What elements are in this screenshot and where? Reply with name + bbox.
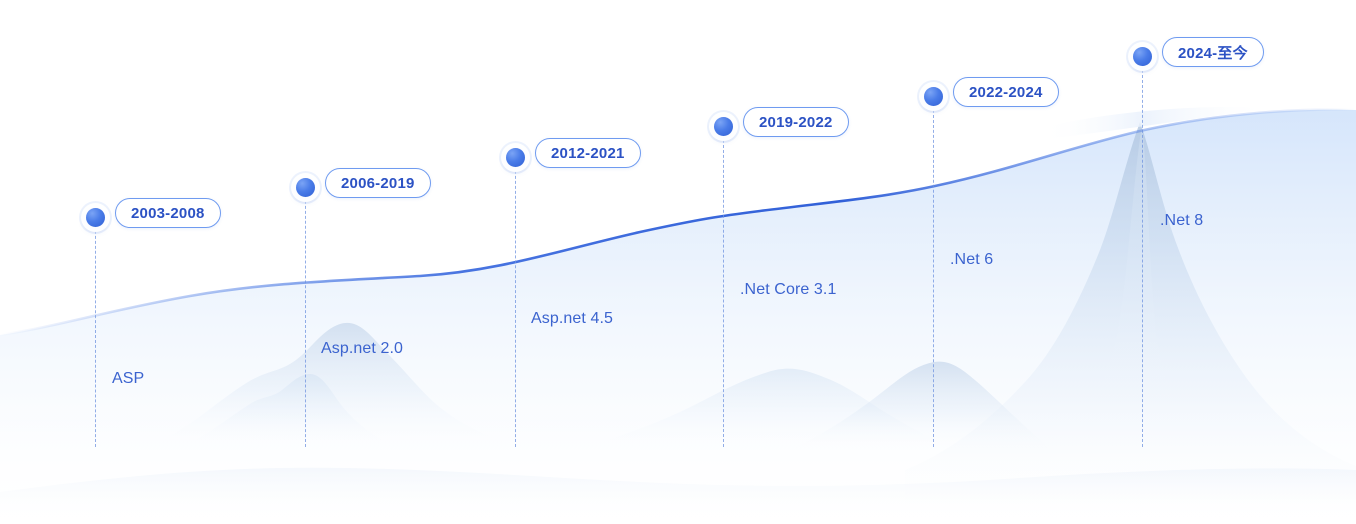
milestone-dot-icon[interactable]	[714, 117, 733, 136]
background-artwork	[0, 0, 1356, 524]
technology-label: ASP	[112, 370, 144, 388]
milestone-dot-icon[interactable]	[296, 178, 315, 197]
milestone-dot-icon[interactable]	[924, 87, 943, 106]
milestone-guide-line	[95, 226, 96, 447]
milestone-guide-line	[1142, 65, 1143, 447]
period-badge[interactable]: 2024-至今	[1162, 37, 1264, 67]
period-badge[interactable]: 2022-2024	[953, 77, 1059, 107]
period-badge[interactable]: 2003-2008	[115, 198, 221, 228]
period-badge[interactable]: 2019-2022	[743, 107, 849, 137]
period-badge[interactable]: 2012-2021	[535, 138, 641, 168]
technology-label: .Net Core 3.1	[740, 281, 836, 299]
milestone-guide-line	[723, 135, 724, 447]
period-badge[interactable]: 2006-2019	[325, 168, 431, 198]
timeline-infographic: 2003-2008ASP2006-2019Asp.net 2.02012-202…	[0, 0, 1356, 524]
milestone-dot-icon[interactable]	[86, 208, 105, 227]
milestone-dot-icon[interactable]	[506, 148, 525, 167]
milestone-guide-line	[515, 166, 516, 447]
milestone-guide-line	[305, 196, 306, 447]
technology-label: Asp.net 2.0	[321, 340, 403, 358]
technology-label: .Net 8	[1160, 212, 1203, 230]
milestone-guide-line	[933, 105, 934, 447]
technology-label: .Net 6	[950, 251, 993, 269]
technology-label: Asp.net 4.5	[531, 310, 613, 328]
milestone-dot-icon[interactable]	[1133, 47, 1152, 66]
